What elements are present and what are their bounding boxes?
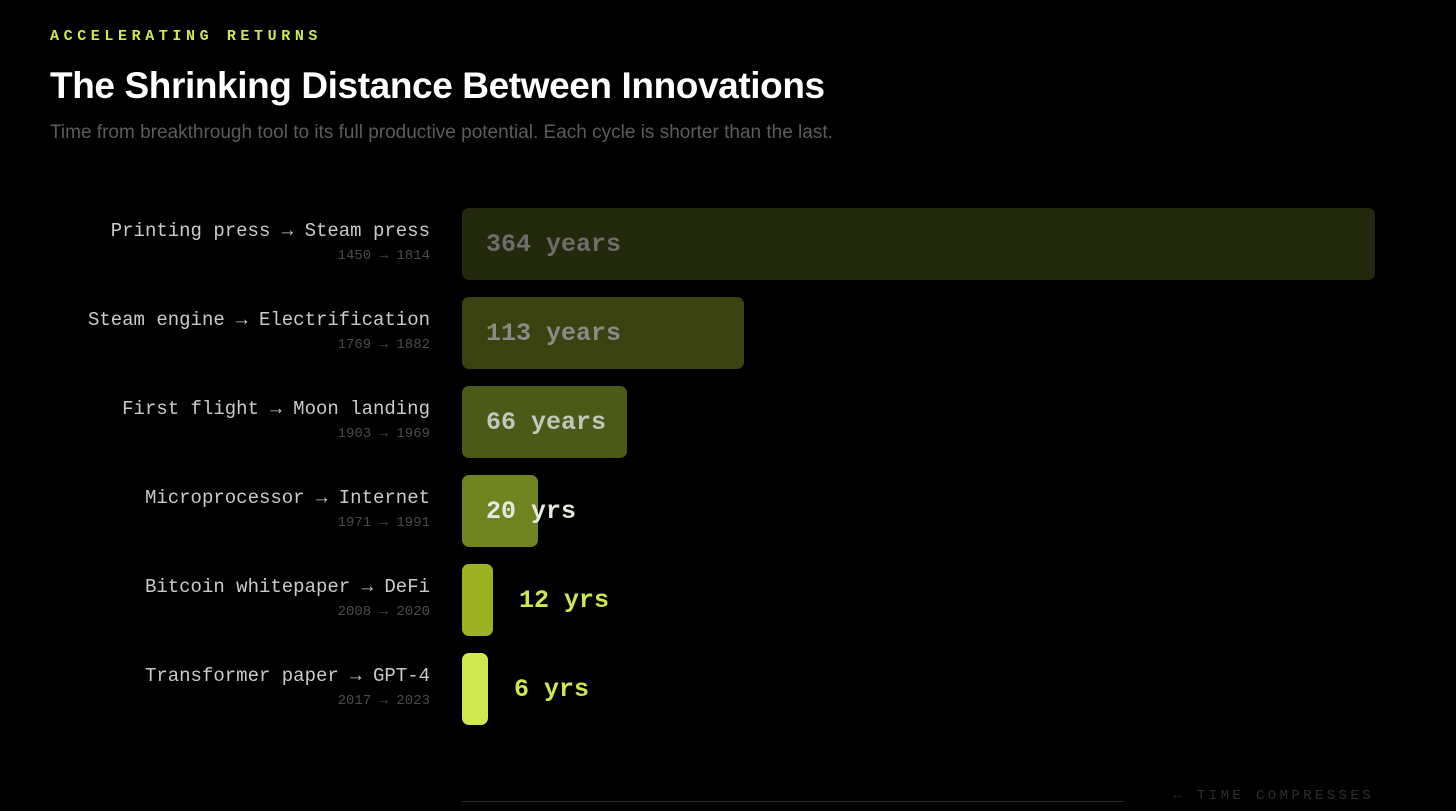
bar-value-label: 364 years [462, 230, 621, 259]
innovation-pair-label: Printing press → Steam press [40, 219, 430, 244]
innovation-pair-label: Transformer paper → GPT-4 [40, 664, 430, 689]
eyebrow-label: ACCELERATING RETURNS [50, 0, 1416, 45]
bar[interactable]: 6 yrs [462, 653, 488, 725]
year-span-label: 2008 → 2020 [40, 602, 430, 622]
bar-track: 12 yrs [462, 564, 1456, 653]
year-span-label: 2017 → 2023 [40, 691, 430, 711]
bar[interactable]: 364 years [462, 208, 1375, 280]
bar-track: 113 years [462, 297, 1456, 386]
chart-footer: ← TIME COMPRESSES [462, 792, 1374, 811]
row-label-group: First flight → Moon landing1903 → 1969 [40, 397, 430, 444]
chart-row: Transformer paper → GPT-42017 → 20236 yr… [0, 653, 1456, 742]
bar[interactable]: 113 years [462, 297, 744, 369]
chart-row: Printing press → Steam press1450 → 18143… [0, 208, 1456, 297]
bar[interactable]: 66 years [462, 386, 627, 458]
innovation-pair-label: Microprocessor → Internet [40, 486, 430, 511]
bar[interactable]: 12 yrs [462, 564, 493, 636]
bar-value-label: 12 yrs [493, 586, 609, 615]
chart-row-inner: Steam engine → Electrification1769 → 188… [0, 297, 1456, 386]
bar[interactable]: 20 yrs [462, 475, 538, 547]
footer-caption: ← TIME COMPRESSES [1173, 788, 1374, 804]
chart-row-inner: First flight → Moon landing1903 → 196966… [0, 386, 1456, 475]
chart-row-inner: Bitcoin whitepaper → DeFi2008 → 202012 y… [0, 564, 1456, 653]
chart-row-inner: Printing press → Steam press1450 → 18143… [0, 208, 1456, 297]
bar-value-label: 20 yrs [462, 497, 576, 526]
bar-value-label: 66 years [462, 408, 606, 437]
chart-page: ACCELERATING RETURNS The Shrinking Dista… [0, 0, 1456, 811]
chart-row: Steam engine → Electrification1769 → 188… [0, 297, 1456, 386]
chart-row-inner: Transformer paper → GPT-42017 → 20236 yr… [0, 653, 1456, 742]
page-subtitle: Time from breakthrough tool to its full … [50, 122, 1416, 144]
innovation-pair-label: First flight → Moon landing [40, 397, 430, 422]
page-header: ACCELERATING RETURNS The Shrinking Dista… [50, 0, 1416, 144]
year-span-label: 1903 → 1969 [40, 424, 430, 444]
year-span-label: 1971 → 1991 [40, 513, 430, 533]
bar-track: 6 yrs [462, 653, 1456, 742]
bar-track: 20 yrs [462, 475, 1456, 564]
innovation-pair-label: Steam engine → Electrification [40, 308, 430, 333]
chart-row: Bitcoin whitepaper → DeFi2008 → 202012 y… [0, 564, 1456, 653]
chart-row: First flight → Moon landing1903 → 196966… [0, 386, 1456, 475]
year-span-label: 1450 → 1814 [40, 246, 430, 266]
footer-rule [462, 801, 1124, 802]
bar-track: 364 years [462, 208, 1456, 297]
row-label-group: Steam engine → Electrification1769 → 188… [40, 308, 430, 355]
row-label-group: Transformer paper → GPT-42017 → 2023 [40, 664, 430, 711]
bar-value-label: 113 years [462, 319, 621, 348]
page-title: The Shrinking Distance Between Innovatio… [50, 65, 1416, 107]
chart-row: Microprocessor → Internet1971 → 199120 y… [0, 475, 1456, 564]
innovation-pair-label: Bitcoin whitepaper → DeFi [40, 575, 430, 600]
row-label-group: Microprocessor → Internet1971 → 1991 [40, 486, 430, 533]
chart-row-inner: Microprocessor → Internet1971 → 199120 y… [0, 475, 1456, 564]
row-label-group: Printing press → Steam press1450 → 1814 [40, 219, 430, 266]
bar-track: 66 years [462, 386, 1456, 475]
horizontal-bar-chart: Printing press → Steam press1450 → 18143… [0, 208, 1456, 742]
year-span-label: 1769 → 1882 [40, 335, 430, 355]
row-label-group: Bitcoin whitepaper → DeFi2008 → 2020 [40, 575, 430, 622]
bar-value-label: 6 yrs [488, 675, 589, 704]
